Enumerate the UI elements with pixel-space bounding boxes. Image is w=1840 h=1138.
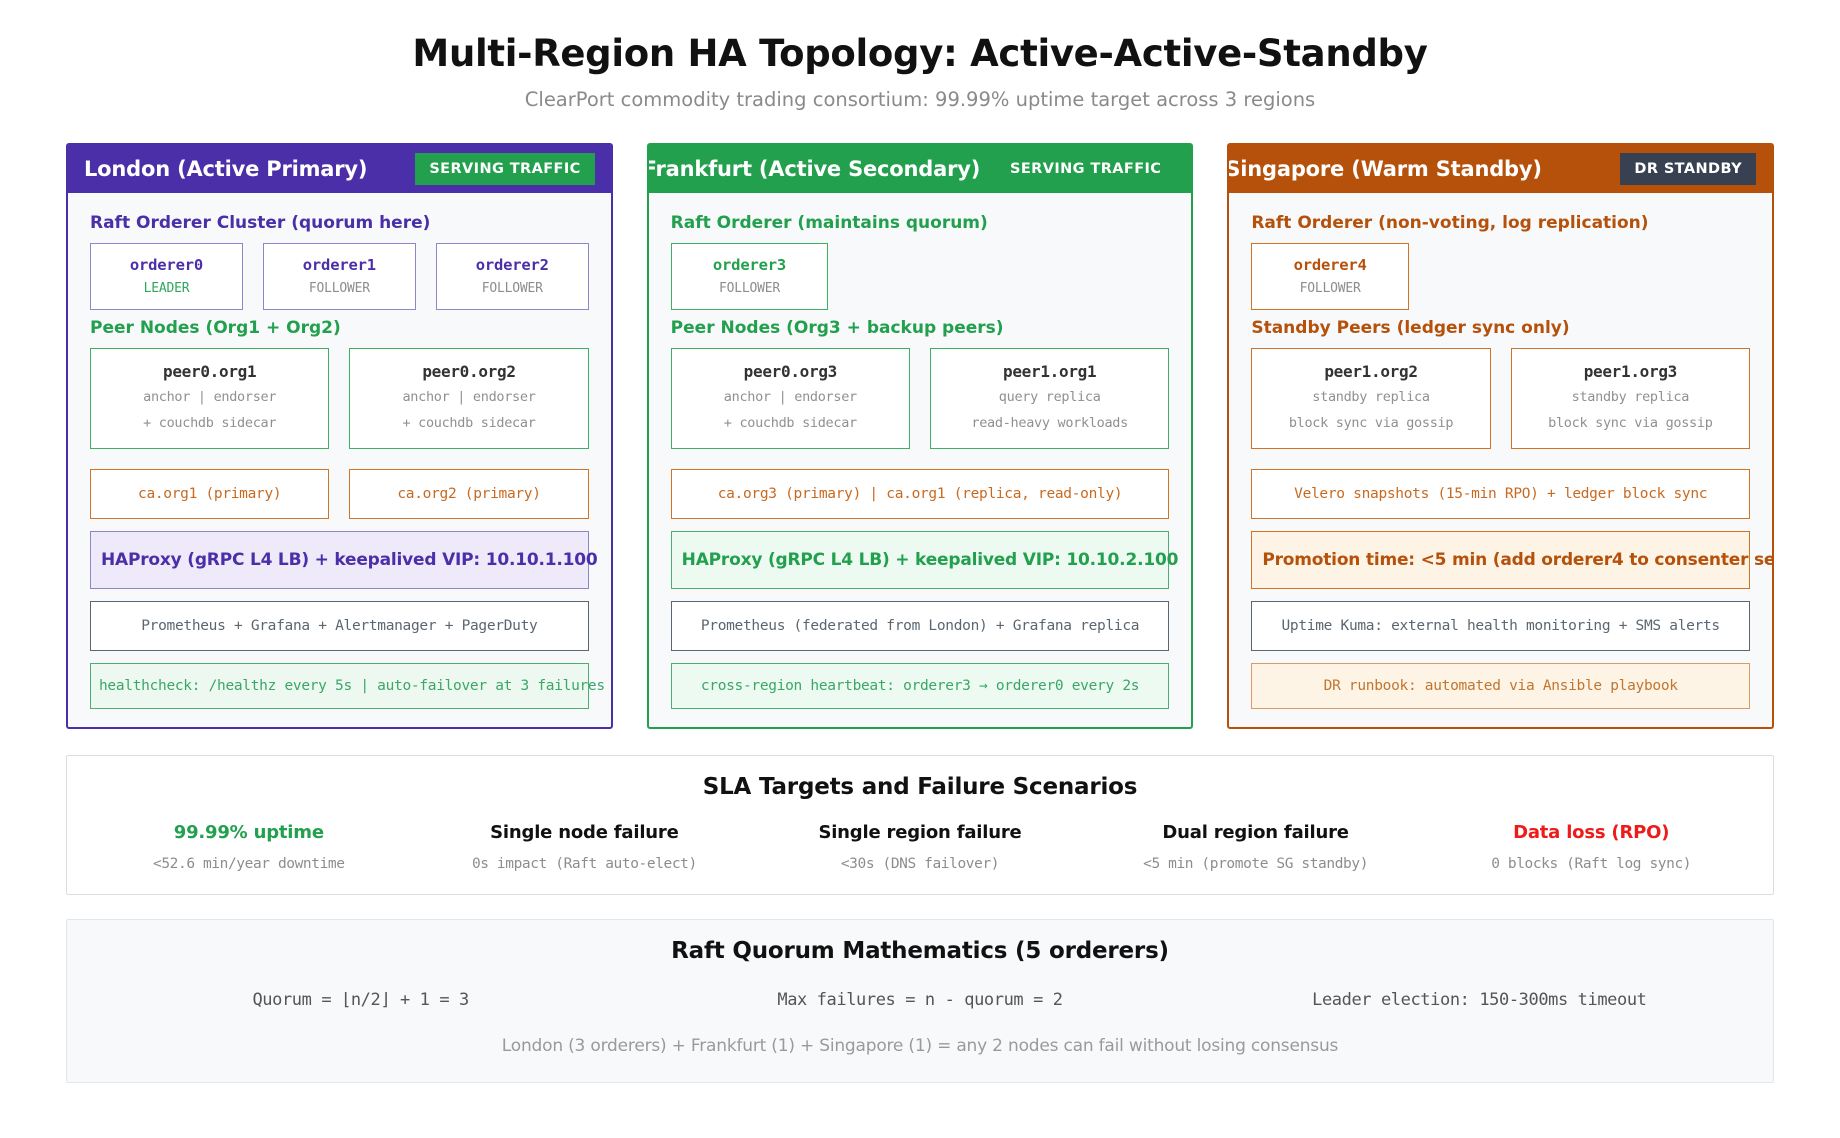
- page-title: Multi-Region HA Topology: Active-Active-…: [66, 32, 1774, 76]
- load-balancer-highlight[interactable]: HAProxy (gRPC L4 LB) + keepalived VIP: 1…: [671, 531, 1170, 589]
- ca-box[interactable]: ca.org2 (primary): [349, 469, 588, 519]
- quorum-formula-list: Quorum = ⌊n/2⌋ + 1 = 3 Max failures = n …: [81, 990, 1759, 1010]
- orderer-name: orderer4: [1258, 256, 1402, 274]
- peer-meta-secondary: block sync via gossip: [1518, 414, 1743, 434]
- sla-panel: SLA Targets and Failure Scenarios 99.99%…: [66, 755, 1774, 895]
- status-badge: SERVING TRAFFIC: [415, 153, 594, 185]
- peer-list: peer1.org2 standby replica block sync vi…: [1251, 348, 1750, 449]
- region-card-frankfurt[interactable]: Frankfurt (Active Secondary) SERVING TRA…: [647, 143, 1194, 729]
- orderer-node[interactable]: orderer0 LEADER: [90, 243, 243, 310]
- orderer-role: FOLLOWER: [1258, 281, 1402, 296]
- page-subtitle: ClearPort commodity trading consortium: …: [66, 88, 1774, 111]
- sla-item-head: Data loss (RPO): [1423, 822, 1759, 843]
- orderer-name: orderer3: [678, 256, 822, 274]
- region-footer-text: DR runbook: automated via Ansible playbo…: [1260, 678, 1741, 694]
- sla-item: Dual region failure <5 min (promote SG s…: [1088, 822, 1424, 872]
- region-title: London (Active Primary): [84, 157, 367, 181]
- region-title: Singapore (Warm Standby): [1227, 157, 1541, 181]
- status-badge: DR STANDBY: [1620, 153, 1756, 185]
- orderer-role: LEADER: [97, 281, 236, 296]
- orderer-list: orderer0 LEADER orderer1 FOLLOWER ordere…: [90, 243, 589, 310]
- backup-box[interactable]: Velero snapshots (15-min RPO) + ledger b…: [1251, 469, 1750, 519]
- orderer-node[interactable]: orderer2 FOLLOWER: [436, 243, 589, 310]
- region-footer-text: healthcheck: /healthz every 5s | auto-fa…: [99, 678, 580, 694]
- orderer-section-label: Raft Orderer Cluster (quorum here): [90, 213, 589, 233]
- peer-list: peer0.org1 anchor | endorser + couchdb s…: [90, 348, 589, 449]
- peer-name: peer0.org2: [356, 362, 581, 381]
- sla-item-sub: <5 min (promote SG standby): [1088, 856, 1424, 872]
- orderer-role: FOLLOWER: [270, 281, 409, 296]
- region-title: Frankfurt (Active Secondary): [647, 157, 980, 181]
- orderer-section-label: Raft Orderer (maintains quorum): [671, 213, 1170, 233]
- orderer-node[interactable]: orderer3 FOLLOWER: [671, 243, 829, 310]
- peer-list: peer0.org3 anchor | endorser + couchdb s…: [671, 348, 1170, 449]
- sla-item: Single region failure <30s (DNS failover…: [752, 822, 1088, 872]
- quorum-formula: Quorum = ⌊n/2⌋ + 1 = 3: [81, 990, 640, 1010]
- orderer-name: orderer2: [443, 256, 582, 274]
- region-panels: London (Active Primary) SERVING TRAFFIC …: [66, 143, 1774, 729]
- quorum-panel-title: Raft Quorum Mathematics (5 orderers): [81, 938, 1759, 964]
- peer-name: peer1.org1: [937, 362, 1162, 381]
- ca-list: Velero snapshots (15-min RPO) + ledger b…: [1251, 457, 1750, 519]
- region-body: Raft Orderer Cluster (quorum here) order…: [68, 193, 611, 727]
- region-body: Raft Orderer (maintains quorum) orderer3…: [649, 193, 1192, 727]
- peer-node[interactable]: peer1.org3 standby replica block sync vi…: [1511, 348, 1750, 449]
- peer-meta-primary: standby replica: [1518, 388, 1743, 408]
- sla-item-head: Single node failure: [417, 822, 753, 843]
- region-header-frankfurt: Frankfurt (Active Secondary) SERVING TRA…: [649, 145, 1192, 193]
- orderer-role: FOLLOWER: [443, 281, 582, 296]
- quorum-note: London (3 orderers) + Frankfurt (1) + Si…: [81, 1036, 1759, 1056]
- region-footer-note[interactable]: healthcheck: /healthz every 5s | auto-fa…: [90, 663, 589, 709]
- orderer-name: orderer1: [270, 256, 409, 274]
- sla-item: Data loss (RPO) 0 blocks (Raft log sync): [1423, 822, 1759, 872]
- region-footer-text: cross-region heartbeat: orderer3 → order…: [680, 678, 1161, 694]
- ca-box[interactable]: ca.org3 (primary) | ca.org1 (replica, re…: [671, 469, 1170, 519]
- orderer-node[interactable]: orderer1 FOLLOWER: [263, 243, 416, 310]
- sla-item-head: Single region failure: [752, 822, 1088, 843]
- peer-node[interactable]: peer0.org3 anchor | endorser + couchdb s…: [671, 348, 910, 449]
- peer-meta-primary: anchor | endorser: [97, 388, 322, 408]
- quorum-panel: Raft Quorum Mathematics (5 orderers) Quo…: [66, 919, 1774, 1083]
- peer-node[interactable]: peer0.org1 anchor | endorser + couchdb s…: [90, 348, 329, 449]
- peer-meta-secondary: + couchdb sidecar: [678, 414, 903, 434]
- promotion-time-highlight[interactable]: Promotion time: <5 min (add orderer4 to …: [1251, 531, 1750, 589]
- orderer-name: orderer0: [97, 256, 236, 274]
- region-card-singapore[interactable]: Singapore (Warm Standby) DR STANDBY Raft…: [1227, 143, 1774, 729]
- sla-item: 99.99% uptime <52.6 min/year downtime: [81, 822, 417, 872]
- sla-item-head: Dual region failure: [1088, 822, 1424, 843]
- orderer-role: FOLLOWER: [678, 281, 822, 296]
- peer-section-label: Peer Nodes (Org3 + backup peers): [671, 318, 1170, 338]
- quorum-formula: Max failures = n - quorum = 2: [640, 990, 1199, 1010]
- monitoring-box[interactable]: Prometheus + Grafana + Alertmanager + Pa…: [90, 601, 589, 651]
- ca-box[interactable]: ca.org1 (primary): [90, 469, 329, 519]
- sla-item-sub: <30s (DNS failover): [752, 856, 1088, 872]
- peer-meta-secondary: read-heavy workloads: [937, 414, 1162, 434]
- orderer-section-label: Raft Orderer (non-voting, log replicatio…: [1251, 213, 1750, 233]
- sla-item-sub: 0 blocks (Raft log sync): [1423, 856, 1759, 872]
- diagram-page: Multi-Region HA Topology: Active-Active-…: [0, 0, 1840, 1138]
- status-badge: SERVING TRAFFIC: [996, 153, 1175, 185]
- sla-item: Single node failure 0s impact (Raft auto…: [417, 822, 753, 872]
- sla-item-list: 99.99% uptime <52.6 min/year downtime Si…: [81, 822, 1759, 872]
- peer-name: peer1.org2: [1258, 362, 1483, 381]
- peer-node[interactable]: peer1.org2 standby replica block sync vi…: [1251, 348, 1490, 449]
- monitoring-box[interactable]: Prometheus (federated from London) + Gra…: [671, 601, 1170, 651]
- load-balancer-highlight[interactable]: HAProxy (gRPC L4 LB) + keepalived VIP: 1…: [90, 531, 589, 589]
- peer-node[interactable]: peer1.org1 query replica read-heavy work…: [930, 348, 1169, 449]
- peer-name: peer0.org1: [97, 362, 322, 381]
- peer-meta-secondary: + couchdb sidecar: [97, 414, 322, 434]
- peer-node[interactable]: peer0.org2 anchor | endorser + couchdb s…: [349, 348, 588, 449]
- peer-meta-primary: anchor | endorser: [678, 388, 903, 408]
- region-footer-note[interactable]: DR runbook: automated via Ansible playbo…: [1251, 663, 1750, 709]
- peer-meta-secondary: + couchdb sidecar: [356, 414, 581, 434]
- region-header-london: London (Active Primary) SERVING TRAFFIC: [68, 145, 611, 193]
- region-footer-note[interactable]: cross-region heartbeat: orderer3 → order…: [671, 663, 1170, 709]
- sla-item-head: 99.99% uptime: [81, 822, 417, 843]
- peer-meta-primary: query replica: [937, 388, 1162, 408]
- peer-meta-primary: anchor | endorser: [356, 388, 581, 408]
- region-card-london[interactable]: London (Active Primary) SERVING TRAFFIC …: [66, 143, 613, 729]
- peer-name: peer0.org3: [678, 362, 903, 381]
- orderer-list: orderer4 FOLLOWER: [1251, 243, 1750, 310]
- peer-section-label: Standby Peers (ledger sync only): [1251, 318, 1750, 338]
- region-body: Raft Orderer (non-voting, log replicatio…: [1229, 193, 1772, 727]
- peer-name: peer1.org3: [1518, 362, 1743, 381]
- region-header-singapore: Singapore (Warm Standby) DR STANDBY: [1229, 145, 1772, 193]
- ca-list: ca.org3 (primary) | ca.org1 (replica, re…: [671, 457, 1170, 519]
- ca-list: ca.org1 (primary) ca.org2 (primary): [90, 457, 589, 519]
- orderer-node[interactable]: orderer4 FOLLOWER: [1251, 243, 1409, 310]
- peer-section-label: Peer Nodes (Org1 + Org2): [90, 318, 589, 338]
- peer-meta-primary: standby replica: [1258, 388, 1483, 408]
- peer-meta-secondary: block sync via gossip: [1258, 414, 1483, 434]
- quorum-formula: Leader election: 150-300ms timeout: [1200, 990, 1759, 1010]
- monitoring-box[interactable]: Uptime Kuma: external health monitoring …: [1251, 601, 1750, 651]
- sla-panel-title: SLA Targets and Failure Scenarios: [81, 774, 1759, 800]
- sla-item-sub: <52.6 min/year downtime: [81, 856, 417, 872]
- sla-item-sub: 0s impact (Raft auto-elect): [417, 856, 753, 872]
- orderer-list: orderer3 FOLLOWER: [671, 243, 1170, 310]
